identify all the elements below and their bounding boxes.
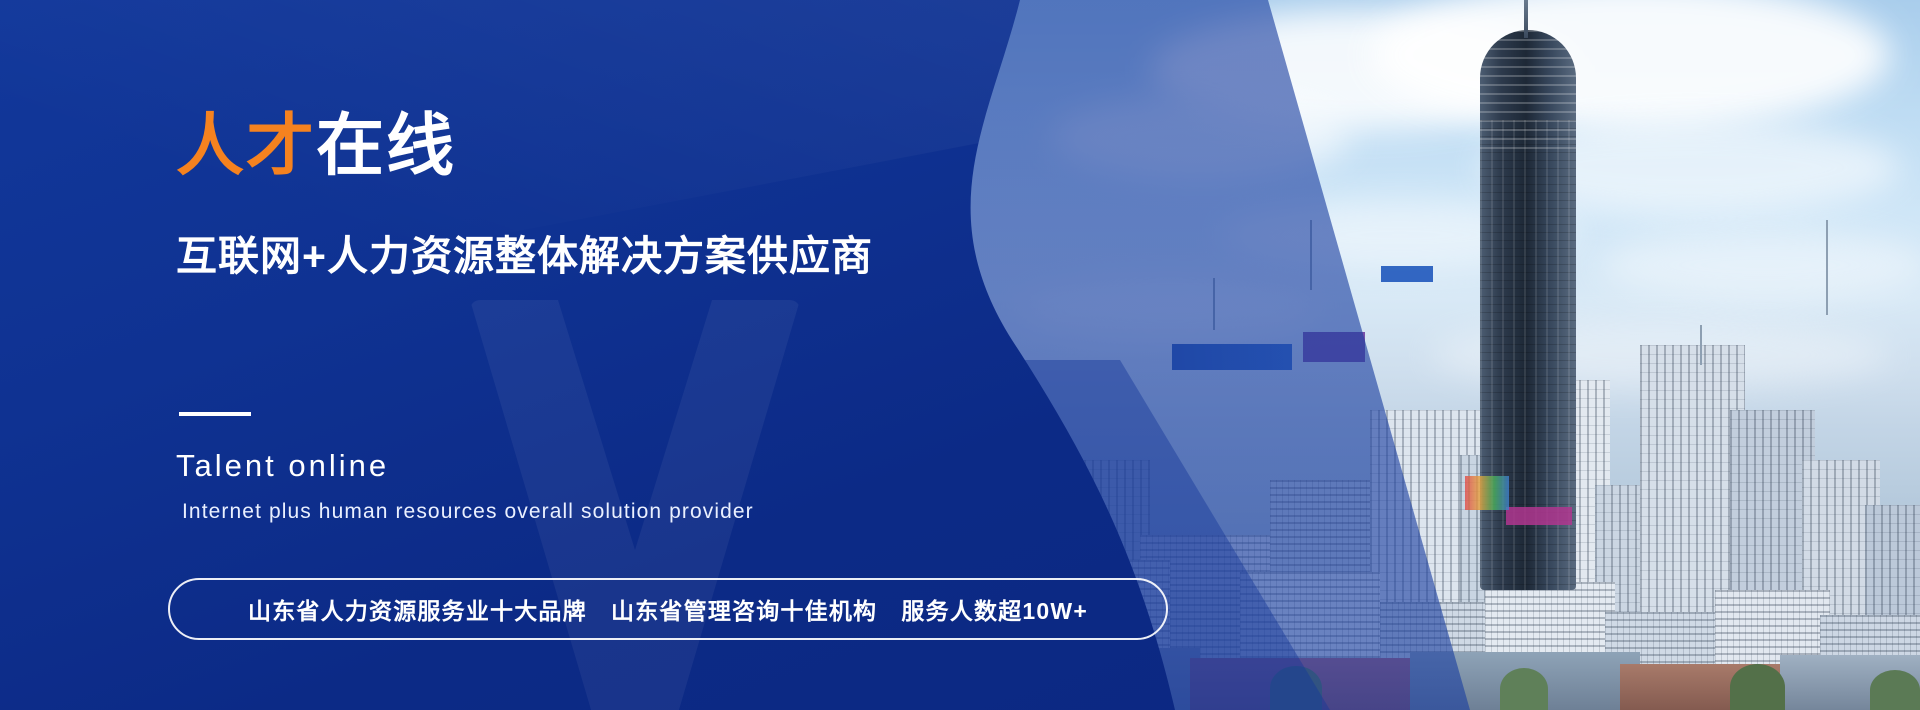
tree: [1870, 670, 1920, 710]
billboard: [1506, 507, 1572, 525]
page-subtitle: 互联网+人力资源整体解决方案供应商: [176, 236, 873, 277]
page-title: 人才在线: [176, 112, 456, 180]
title-highlight: 人才: [176, 108, 316, 184]
billboard: [1381, 266, 1433, 282]
english-description: Internet plus human resources overall so…: [182, 500, 754, 524]
tree: [1500, 668, 1548, 710]
antenna: [1700, 325, 1702, 365]
english-tagline: Talent online: [176, 448, 389, 484]
tower-spire: [1524, 0, 1528, 38]
credentials-badge-text: 山东省人力资源服务业十大品牌 山东省管理咨询十佳机构 服务人数超10W+: [248, 592, 1088, 626]
banner-content: 人才在线 互联网+人力资源整体解决方案供应商 Talent online Int…: [176, 0, 1176, 710]
tree: [1730, 664, 1785, 710]
hero-banner: 人才在线 互联网+人力资源整体解决方案供应商 Talent online Int…: [0, 0, 1920, 710]
billboard: [1465, 476, 1509, 510]
divider-rule: [179, 412, 251, 416]
antenna: [1826, 220, 1828, 315]
title-rest: 在线: [316, 108, 456, 184]
credentials-badge: 山东省人力资源服务业十大品牌 山东省管理咨询十佳机构 服务人数超10W+: [168, 578, 1168, 640]
